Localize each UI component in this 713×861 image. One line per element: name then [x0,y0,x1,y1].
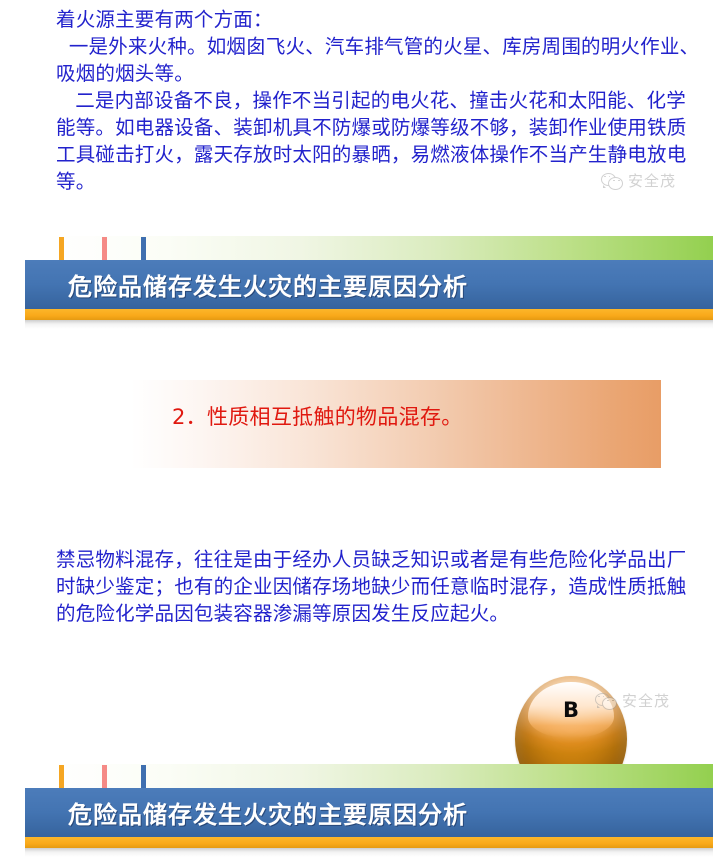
callout-heading-text: 2．性质相互抵触的物品混存。 [172,402,502,433]
watermark-lower: 安全茂 [595,690,670,711]
watermark-label: 安全茂 [622,690,670,711]
wechat-icon [595,692,617,710]
banner-band-shadow [25,848,713,857]
watermark-top: 安全茂 [601,170,676,191]
intro-paragraph: 着火源主要有两个方面： 一是外来火种。如烟囱飞火、汽车排气管的火星、库房周围的明… [56,6,704,195]
banner-title-text: 危险品储存发生火灾的主要原因分析 [68,795,468,830]
wechat-icon [601,172,623,190]
body-paragraph: 禁忌物料混存，往往是由于经办人员缺乏知识或者是有些危险化学品出厂时缺少鉴定；也有… [56,546,696,627]
callout-badge-label: B [563,698,579,722]
banner-title-bar: 危险品储存发生火灾的主要原因分析 [25,260,713,309]
banner-title-text: 危险品储存发生火灾的主要原因分析 [68,267,468,302]
banner-gold-band [25,837,713,848]
section-banner-top: 危险品储存发生火灾的主要原因分析 [0,228,713,333]
banner-gold-band [25,309,713,320]
banner-band-shadow [25,320,713,329]
banner-title-bar: 危险品储存发生火灾的主要原因分析 [25,788,713,837]
section-banner-bottom: 危险品储存发生火灾的主要原因分析 [0,756,713,861]
watermark-label: 安全茂 [628,170,676,191]
